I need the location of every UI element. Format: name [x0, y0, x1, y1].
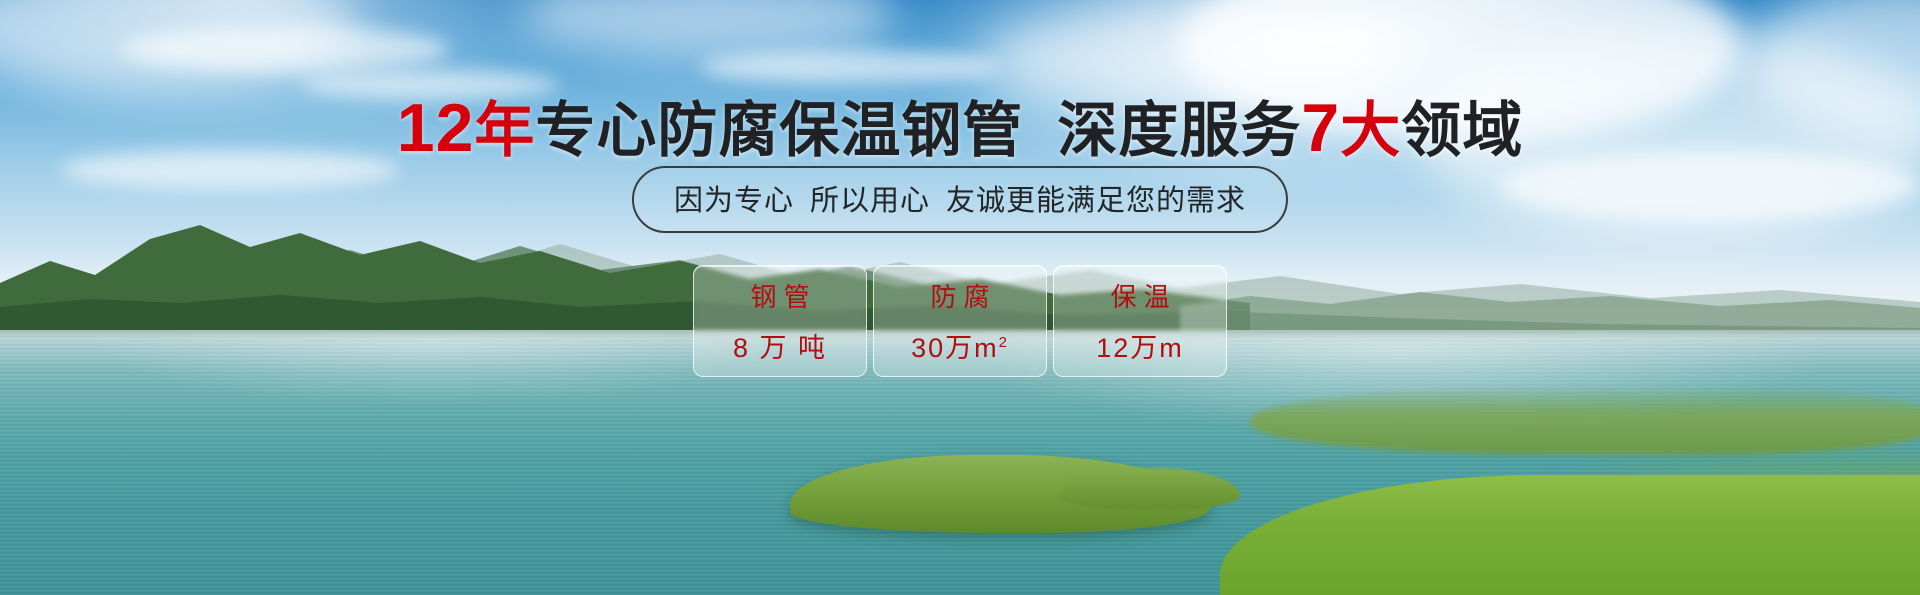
- stat-value-text: 30万m: [911, 333, 999, 363]
- headline-fields-unit: 大: [1340, 97, 1401, 164]
- stat-card-label: 钢管: [743, 277, 816, 314]
- stat-card-value: 8 万 吨: [733, 326, 827, 365]
- subtitle-segment-2: 所以用心: [810, 185, 930, 217]
- headline-main-text: 专心防腐保温钢管: [535, 97, 1023, 164]
- stat-value-superscript: 2: [999, 334, 1009, 351]
- stat-card-label: 保温: [1103, 277, 1176, 314]
- headline-fields-text: 领域: [1401, 97, 1523, 164]
- stat-card-anticorrosion: 防腐 30万m2: [873, 265, 1047, 377]
- stat-card-label: 防腐: [923, 277, 996, 314]
- stat-value-text: 8 万 吨: [733, 333, 827, 363]
- text-overlay: 12年专心防腐保温钢管深度服务7大领域 因为专心所以用心友诚更能满足您的需求 钢…: [0, 0, 1920, 595]
- stat-card-group: 钢管 8 万 吨 防腐 30万m2 保温 12万m: [693, 265, 1227, 377]
- subtitle-segment-3: 友诚更能满足您的需求: [946, 185, 1246, 217]
- headline-fields-number: 7: [1301, 90, 1340, 166]
- stat-card-value: 12万m: [1096, 326, 1184, 365]
- stat-card-value: 30万m2: [911, 326, 1009, 365]
- stat-card-steel-pipe: 钢管 8 万 吨: [693, 265, 867, 377]
- stat-value-text: 12万m: [1096, 333, 1184, 363]
- subtitle-segment-1: 因为专心: [674, 185, 794, 217]
- subtitle-pill: 因为专心所以用心友诚更能满足您的需求: [632, 166, 1288, 233]
- promo-banner: 12年专心防腐保温钢管深度服务7大领域 因为专心所以用心友诚更能满足您的需求 钢…: [0, 0, 1920, 595]
- headline: 12年专心防腐保温钢管深度服务7大领域: [0, 82, 1920, 169]
- headline-years-unit: 年: [474, 97, 535, 164]
- headline-service-text: 深度服务: [1057, 97, 1301, 164]
- stat-card-insulation: 保温 12万m: [1053, 265, 1227, 377]
- headline-years-number: 12: [397, 90, 475, 166]
